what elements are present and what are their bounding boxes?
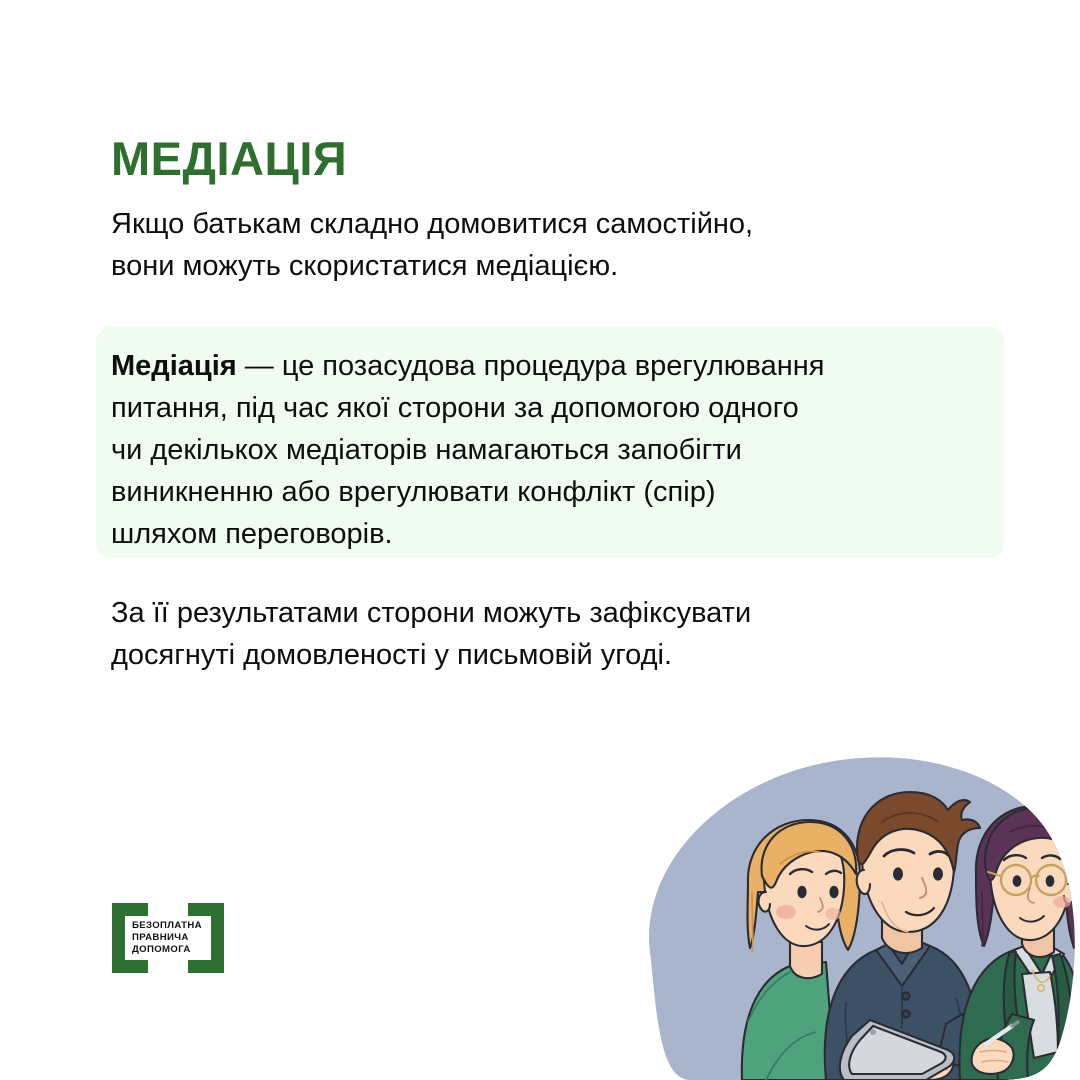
closing-paragraph: За її результатами сторони можуть зафікс… [111,592,971,676]
definition-dash: — [237,350,282,382]
logo-line-3: ДОПОМОГА [132,944,208,956]
logo-line-1: БЕЗОПЛАТНА [132,920,208,932]
definition-line-1: Медіація — це позасудова процедура врегу… [111,345,991,387]
intro-line-2: вони можуть скористатися медіацією. [111,245,951,287]
logo-text: БЕЗОПЛАТНА ПРАВНИЧА ДОПОМОГА [132,920,208,957]
closing-line-2: досягнуті домовленості у письмовій угоді… [111,634,971,676]
definition-line-1-rest: це позасудова процедура врегулювання [282,350,825,382]
intro-paragraph: Якщо батькам складно домовитися самостій… [111,203,951,287]
definition-line-4: виникненню або врегулювати конфлікт (спі… [111,471,991,513]
closing-line-1: За її результатами сторони можуть зафікс… [111,592,971,634]
bezoplatna-pravnycha-dopomoha-logo: БЕЗОПЛАТНА ПРАВНИЧА ДОПОМОГА [112,903,224,973]
three-people-mediation-illustration [630,752,1080,1080]
definition-term: Медіація [111,350,237,382]
logo-line-2: ПРАВНИЧА [132,932,208,944]
definition-line-2: питання, під час якої сторони за допомог… [111,387,991,429]
intro-line-1: Якщо батькам складно домовитися самостій… [111,203,951,245]
definition-text: Медіація — це позасудова процедура врегу… [111,345,991,555]
definition-line-3: чи декількох медіаторів намагаються запо… [111,429,991,471]
definition-line-5: шляхом переговорів. [111,513,991,555]
definition-callout-box: Медіація — це позасудова процедура врегу… [96,327,1004,558]
page-title: МЕДІАЦІЯ [111,134,347,183]
